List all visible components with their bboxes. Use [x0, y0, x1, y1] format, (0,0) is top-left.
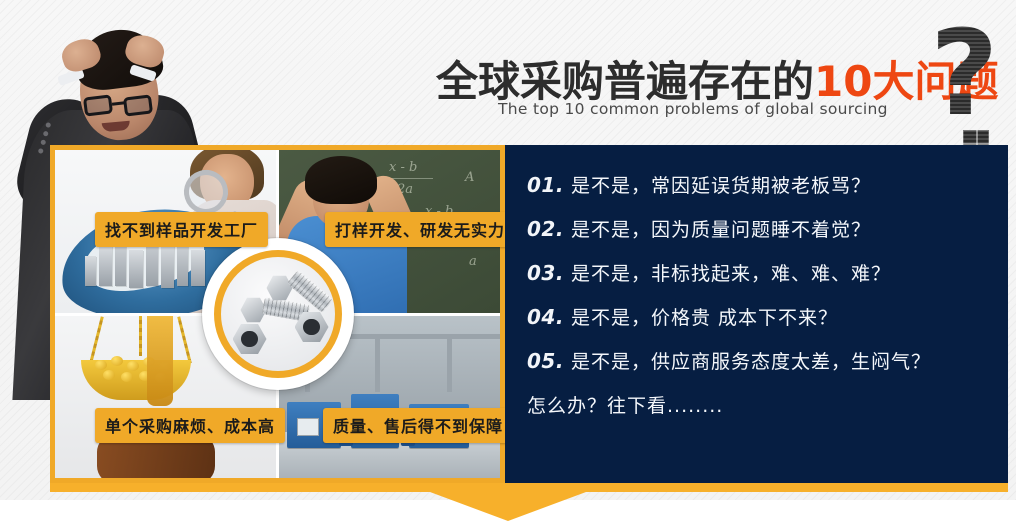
scroll-down-arrow-icon [430, 492, 586, 521]
bottom-accent-bar [50, 483, 1008, 492]
list-item-number: 04. [527, 305, 571, 329]
bolts-circle-badge [202, 238, 354, 390]
list-item-number: 02. [527, 217, 571, 241]
bolts-circle-ring [214, 250, 342, 378]
collage-tag-2: 打样开发、研发无实力 [325, 212, 515, 247]
list-item-number: 03. [527, 261, 571, 285]
collage-tag-4: 质量、售后得不到保障 [323, 408, 513, 443]
collage-tag-1: 找不到样品开发工厂 [95, 212, 268, 247]
list-item: 03. 是不是，非标找起来，难、难、难？ [527, 259, 998, 286]
list-item-text: 是不是，供应商服务态度太差，生闷气？ [571, 347, 931, 374]
header: 全球采购普遍存在的 10大问题 The top 10 common proble… [430, 38, 1016, 138]
list-item: 01. 是不是，常因延误货期被老板骂？ [527, 171, 998, 198]
list-item: 02. 是不是，因为质量问题睡不着觉？ [527, 215, 998, 242]
closing-text: 怎么办？往下看........ [527, 391, 998, 418]
list-item-number: 05. [527, 349, 571, 373]
problem-list-panel: 01. 是不是，常因延误货期被老板骂？ 02. 是不是，因为质量问题睡不着觉？ … [505, 145, 1008, 483]
list-item-text: 是不是，非标找起来，难、难、难？ [571, 259, 891, 286]
problem-list: 01. 是不是，常因延误货期被老板骂？ 02. 是不是，因为质量问题睡不着觉？ … [527, 171, 998, 418]
list-item: 04. 是不是，价格贵 成本下不来？ [527, 303, 998, 330]
nut-icon-1 [233, 323, 267, 355]
list-item-number: 01. [527, 173, 571, 197]
question-mark-icon: ? [930, 14, 998, 132]
list-item-text: 是不是，价格贵 成本下不来？ [571, 303, 838, 330]
eyeglasses-icon [84, 96, 156, 116]
promo-banner: 全球采购普遍存在的 10大问题 The top 10 common proble… [0, 0, 1016, 531]
list-item: 05. 是不是，供应商服务态度太差，生闷气？ [527, 347, 998, 374]
photo-collage: x - b 2a x - b R A a [50, 145, 505, 483]
list-item-text: 是不是，常因延误货期被老板骂？ [571, 171, 871, 198]
collage-tag-3: 单个采购麻烦、成本高 [95, 408, 285, 443]
list-item-text: 是不是，因为质量问题睡不着觉？ [571, 215, 871, 242]
subtitle: The top 10 common problems of global sou… [498, 100, 888, 118]
